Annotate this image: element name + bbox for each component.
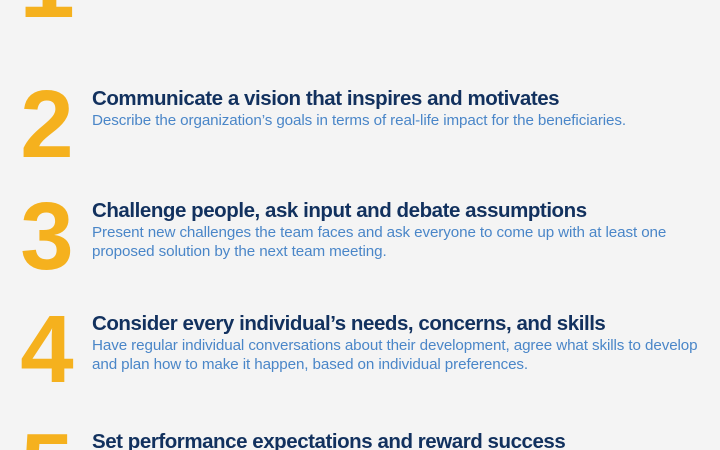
- list-item-number: 3: [0, 196, 92, 277]
- numbered-tips-list: 1 Define team values and discuss togethe…: [0, 0, 720, 450]
- list-item-heading: Communicate a vision that inspires and m…: [92, 88, 716, 110]
- list-item: 2 Communicate a vision that inspires and…: [0, 84, 720, 196]
- list-item-heading: Challenge people, ask input and debate a…: [92, 200, 716, 222]
- list-item: 3 Challenge people, ask input and debate…: [0, 196, 720, 309]
- infographic-poster: 1 Define team values and discuss togethe…: [0, 0, 720, 450]
- list-item-number: 4: [0, 309, 92, 390]
- list-item: 5 Set performance expectations and rewar…: [0, 427, 720, 450]
- list-item: 1 Define team values and discuss togethe…: [0, 0, 720, 84]
- list-item: 4 Consider every individual’s needs, con…: [0, 309, 720, 427]
- list-item-description: Have regular individual conversations ab…: [92, 336, 712, 376]
- list-item-heading: Set performance expectations and reward …: [92, 431, 716, 450]
- list-item-number: 5: [0, 427, 92, 450]
- list-item-heading: Consider every individual’s needs, conce…: [92, 313, 716, 335]
- list-item-description: Describe the organization’s goals in ter…: [92, 111, 712, 131]
- list-item-number: 1: [0, 0, 92, 28]
- list-item-description: Present new challenges the team faces an…: [92, 223, 712, 263]
- list-item-number: 2: [0, 84, 92, 165]
